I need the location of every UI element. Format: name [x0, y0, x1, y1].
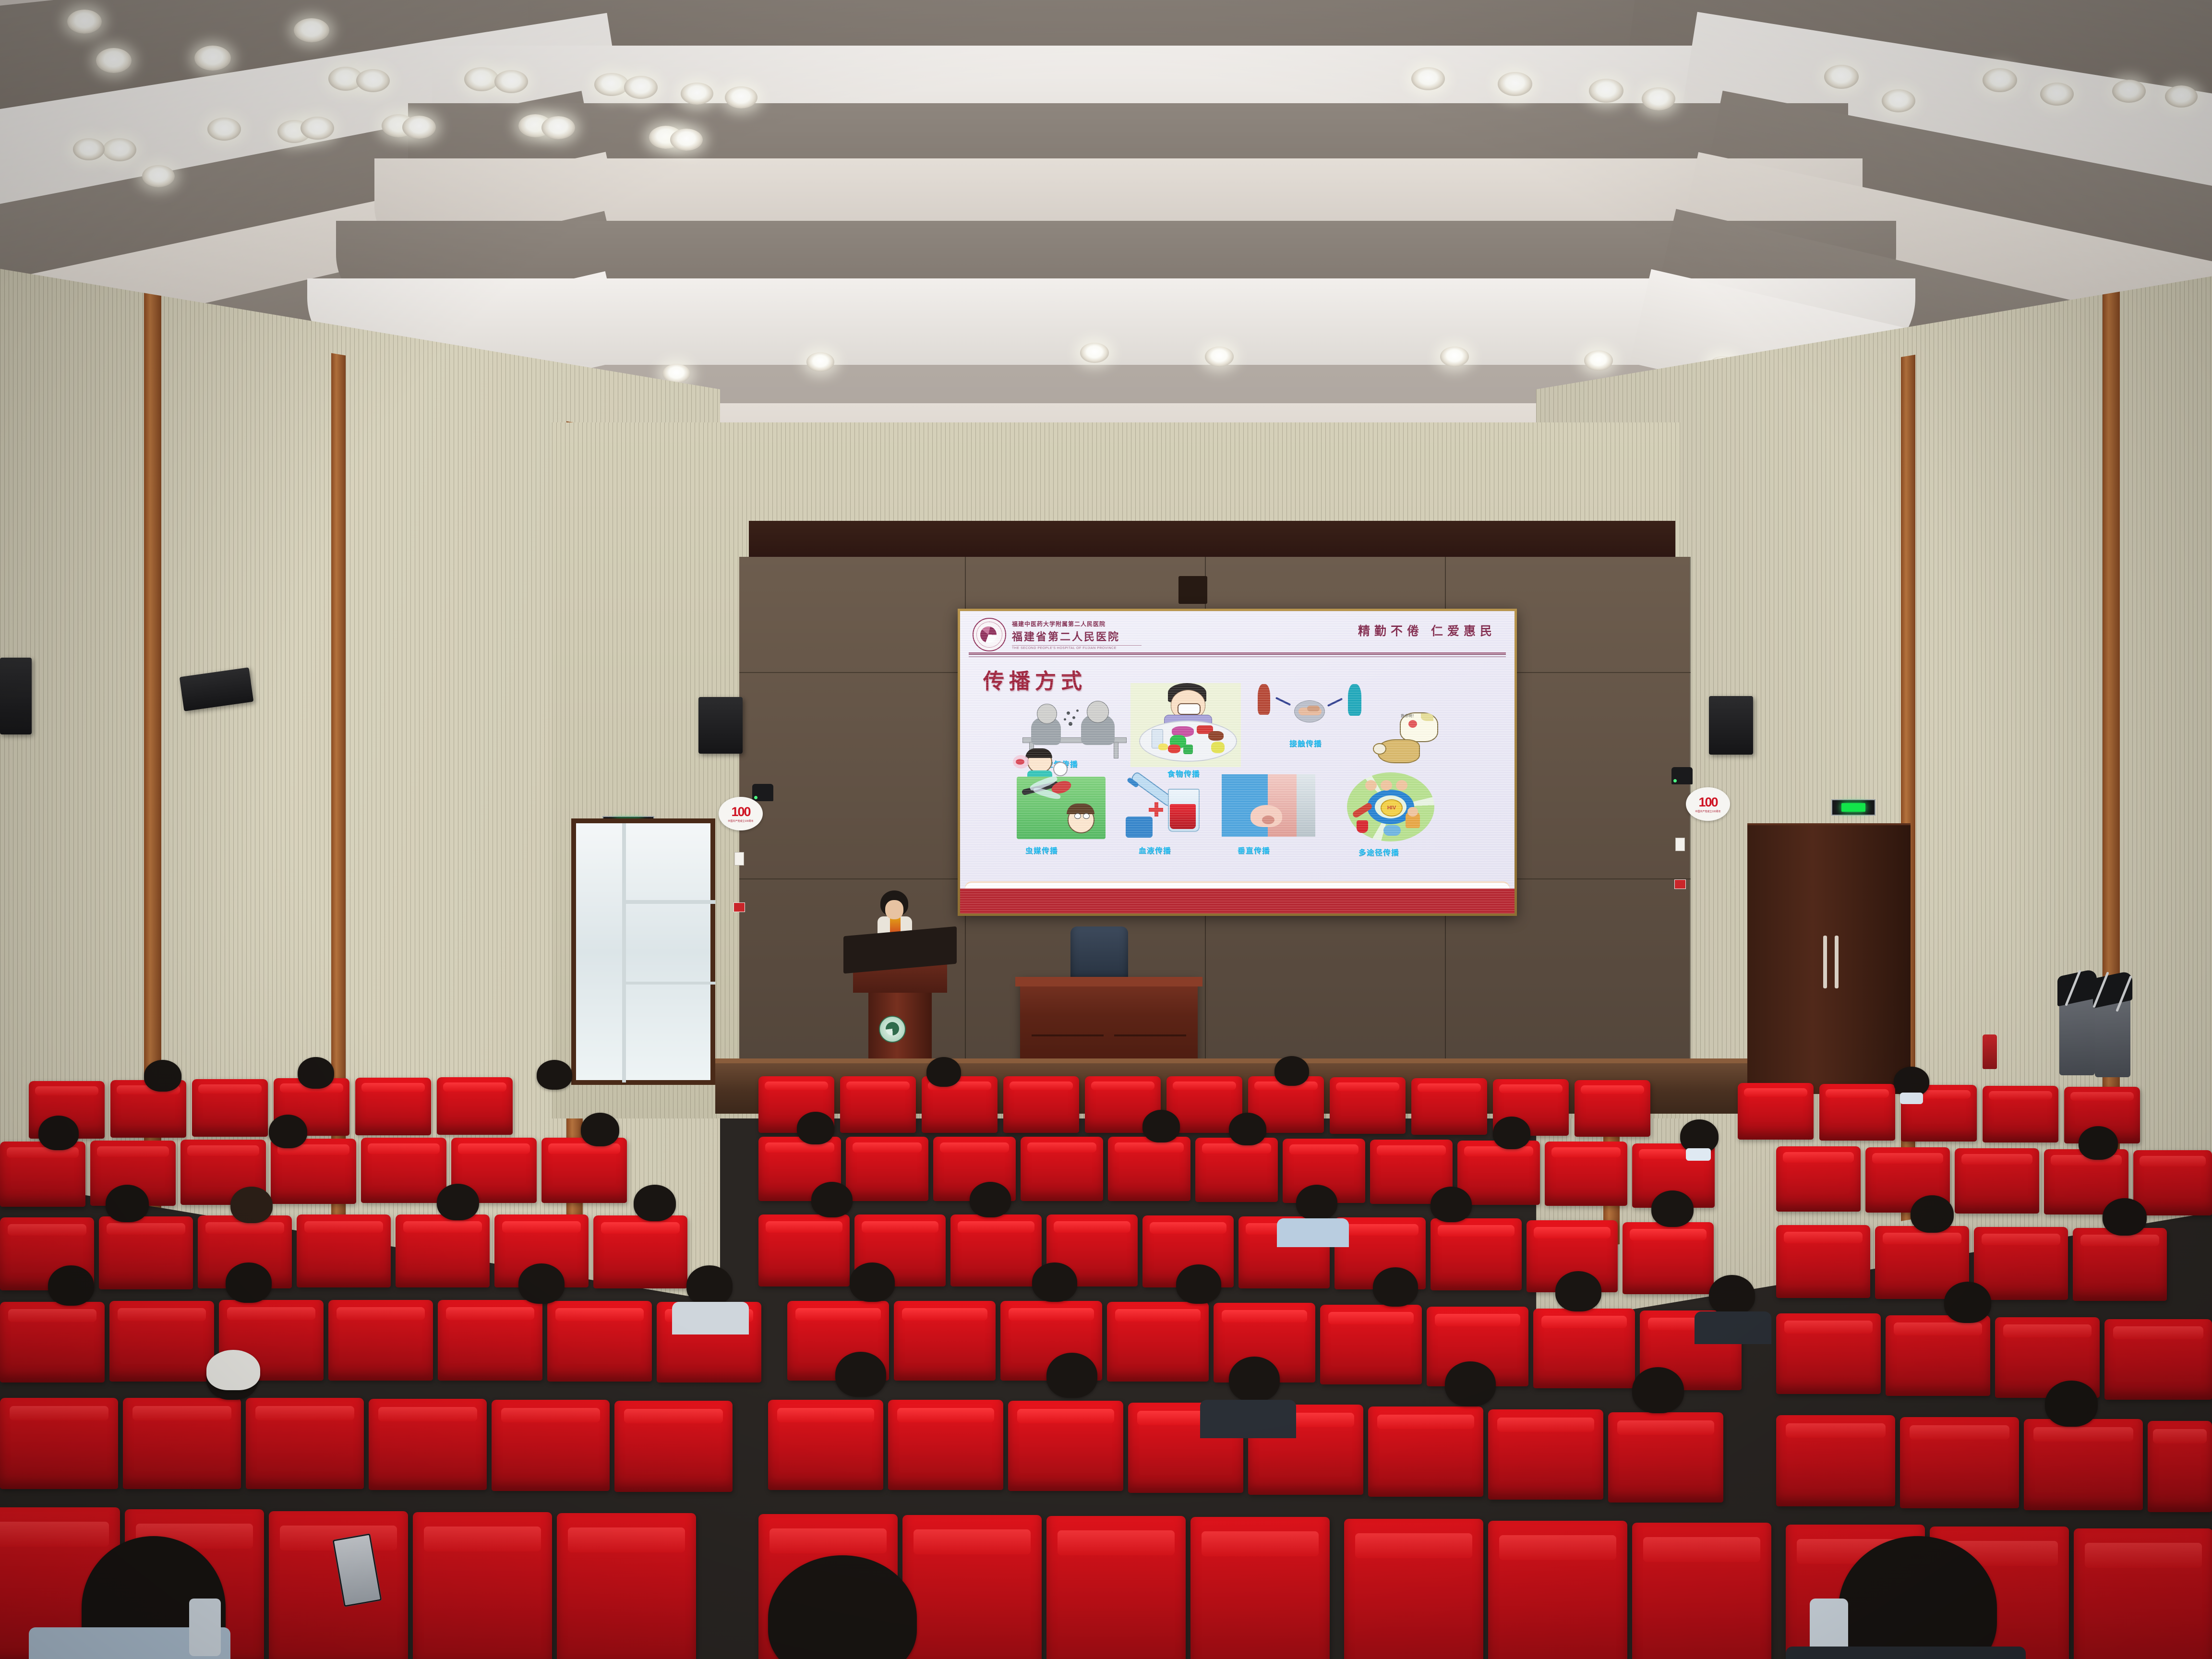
- ceiling-downlight: [2165, 85, 2198, 108]
- seat[interactable]: [1632, 1523, 1771, 1659]
- caption-vector: 虫媒传播: [1025, 845, 1058, 855]
- ceiling-downlight: [67, 10, 102, 34]
- audience-head: [1176, 1264, 1221, 1304]
- seat[interactable]: [492, 1400, 610, 1491]
- seat[interactable]: [758, 1214, 850, 1286]
- header-rule-secondary: [969, 656, 1506, 657]
- seat[interactable]: [2104, 1319, 2212, 1400]
- audience-head: [1894, 1067, 1929, 1096]
- seat[interactable]: [1195, 1138, 1278, 1202]
- centenary-subtitle: 中国共产党成立100周年: [1695, 810, 1720, 813]
- caption-multiroute: 多途径传播: [1358, 847, 1399, 857]
- audience-head: [1229, 1357, 1280, 1402]
- seat[interactable]: [541, 1138, 627, 1203]
- audience-cap: [206, 1350, 260, 1390]
- seat[interactable]: [2073, 1228, 2167, 1301]
- ceiling-downlight: [1882, 89, 1915, 112]
- audience-head: [1229, 1113, 1266, 1145]
- seat[interactable]: [1108, 1137, 1190, 1201]
- seat[interactable]: [1886, 1315, 1990, 1396]
- audience-head: [835, 1352, 886, 1397]
- seat[interactable]: [396, 1214, 490, 1287]
- seat[interactable]: [1431, 1218, 1522, 1290]
- audience-head: [537, 1060, 572, 1090]
- ceiling-downlight: [681, 83, 713, 105]
- seat[interactable]: [1046, 1516, 1186, 1659]
- fire-alarm-button[interactable]: [734, 852, 744, 866]
- ceiling-downlight: [725, 86, 757, 108]
- centenary-subtitle: 中国共产党成立100周年: [728, 819, 753, 823]
- audience-head: [1651, 1190, 1694, 1227]
- hospital-name-english: THE SECOND PEOPLE'S HOSPITAL OF FUJIAN P…: [1012, 645, 1142, 650]
- ceiling-downlight: [1498, 72, 1532, 96]
- seat[interactable]: [192, 1079, 268, 1137]
- hospital-slogan: 精勤不倦 仁爱惠民: [1358, 622, 1496, 639]
- face-mask: [1900, 1093, 1923, 1104]
- centenary-badge-right: 100 中国共产党成立100周年: [1686, 787, 1730, 821]
- audience-head: [686, 1265, 733, 1306]
- audience-head: [1632, 1367, 1684, 1413]
- seat[interactable]: [1003, 1076, 1079, 1133]
- seat[interactable]: [1021, 1137, 1103, 1201]
- animal-bite-illustration: 救命啊！: [1373, 709, 1440, 767]
- slide-book-spine: [1237, 892, 1238, 904]
- audience-head: [1944, 1282, 1991, 1323]
- podium-emblem-icon: [879, 1016, 906, 1043]
- vector-borne-illustration: [1017, 777, 1106, 839]
- seat[interactable]: [1608, 1412, 1723, 1503]
- audience-shoulders: [1277, 1218, 1349, 1247]
- seat[interactable]: [768, 1400, 883, 1490]
- seat[interactable]: [123, 1398, 241, 1489]
- auditorium-photo: 福建中医药大学附属第二人民医院 福建省第二人民医院 THE SECOND PEO…: [0, 0, 2212, 1659]
- ceiling-downlight: [2112, 80, 2146, 103]
- seat[interactable]: [614, 1401, 733, 1492]
- seat[interactable]: [328, 1300, 433, 1381]
- wall-speaker: [0, 658, 32, 734]
- audience-head: [581, 1113, 619, 1146]
- hospital-logo-text: 福建中医药大学附属第二人民医院 福建省第二人民医院 THE SECOND PEO…: [1012, 620, 1142, 650]
- glass-exit-door-left[interactable]: [571, 818, 715, 1085]
- seat[interactable]: [1368, 1407, 1483, 1497]
- audience-seating: [0, 1056, 2212, 1659]
- ceiling-downlight: [494, 70, 528, 93]
- seat[interactable]: [2024, 1419, 2143, 1510]
- ceiling-downlight: [594, 73, 629, 96]
- hiv-center-label: HIV: [1381, 799, 1403, 817]
- foodborne-illustration: [1130, 683, 1241, 767]
- seat[interactable]: [0, 1302, 105, 1382]
- ceiling-downlight: [2040, 83, 2074, 106]
- ceiling-downlight: [294, 18, 329, 42]
- slide-title: 传播方式: [983, 664, 1087, 695]
- seat[interactable]: [1983, 1086, 2058, 1142]
- seat[interactable]: [1457, 1141, 1540, 1205]
- audience-head: [38, 1116, 79, 1150]
- seat[interactable]: [1974, 1227, 2068, 1300]
- seat[interactable]: [413, 1512, 552, 1659]
- seat[interactable]: [1900, 1417, 2019, 1508]
- hospital-logo-icon: [973, 618, 1006, 651]
- audience-head: [269, 1115, 307, 1148]
- fire-alarm-button[interactable]: [1675, 838, 1685, 851]
- ceiling-downlight: [356, 69, 390, 92]
- ceiling-downlight: [1440, 347, 1469, 367]
- audience-head: [1274, 1056, 1309, 1086]
- bloodborne-illustration: [1126, 779, 1210, 839]
- hospital-name-line1: 福建中医药大学附属第二人民医院: [1012, 620, 1142, 628]
- stage-chair: [1070, 926, 1128, 984]
- hospital-name-line2: 福建省第二人民医院: [1012, 628, 1142, 644]
- ceiling-downlight: [1589, 79, 1623, 103]
- header-rule: [969, 652, 1506, 655]
- ceiling-downlight: [1411, 67, 1445, 90]
- exit-sign-right: [1831, 799, 1875, 816]
- audience-head: [1555, 1271, 1601, 1311]
- seat[interactable]: [1107, 1302, 1209, 1382]
- audience-head: [1493, 1117, 1530, 1149]
- seat[interactable]: [437, 1077, 513, 1135]
- seat[interactable]: [2133, 1150, 2212, 1215]
- ceiling-downlight: [541, 116, 575, 139]
- ceiling-downlight: [142, 165, 175, 187]
- audience-head: [1445, 1361, 1496, 1407]
- seat[interactable]: [1488, 1409, 1603, 1500]
- wooden-exit-door-right[interactable]: [1747, 823, 1911, 1094]
- audience-head: [926, 1057, 961, 1087]
- seat[interactable]: [1488, 1521, 1627, 1659]
- seat[interactable]: [1320, 1305, 1422, 1384]
- projector-mount: [1178, 576, 1207, 604]
- seat[interactable]: [1545, 1142, 1627, 1206]
- audience-head: [2079, 1126, 2118, 1160]
- audience-shoulders: [1200, 1400, 1296, 1438]
- seat[interactable]: [902, 1515, 1042, 1659]
- audience-head: [2103, 1198, 2147, 1236]
- audience-head: [1373, 1267, 1418, 1307]
- seat[interactable]: [1776, 1225, 1870, 1298]
- caption-foodborne: 食物传播: [1167, 769, 1200, 779]
- audience-head: [1709, 1275, 1755, 1315]
- multiroute-wheel-illustration: HIV: [1339, 769, 1443, 842]
- audience-head: [1296, 1185, 1337, 1220]
- fire-alarm-strobe: [1674, 879, 1686, 889]
- seat[interactable]: [269, 1511, 408, 1659]
- ceiling-downlight: [1584, 350, 1613, 371]
- foreground-shoulders-right: [1786, 1647, 2026, 1659]
- seat[interactable]: [0, 1398, 118, 1489]
- audience-head: [2045, 1381, 2098, 1427]
- seat[interactable]: [438, 1300, 542, 1381]
- seat[interactable]: [1623, 1222, 1714, 1294]
- centenary-badge-left: 100 中国共产党成立100周年: [719, 797, 763, 830]
- audience-head: [634, 1185, 676, 1221]
- seat[interactable]: [271, 1139, 356, 1204]
- ceiling-downlight: [96, 48, 132, 73]
- seat[interactable]: [297, 1214, 391, 1287]
- caption-contact: 接触传播: [1289, 738, 1322, 748]
- centenary-number: 100: [1698, 795, 1717, 810]
- ceiling-downlight: [1824, 65, 1859, 89]
- ceiling-downlight: [670, 129, 703, 151]
- security-camera-icon: [752, 784, 773, 801]
- wall-speaker: [698, 697, 743, 754]
- audience-head: [230, 1187, 273, 1223]
- fire-alarm-strobe: [733, 902, 745, 912]
- ceiling-downlight: [73, 138, 105, 160]
- audience-head: [226, 1262, 272, 1303]
- seat[interactable]: [1533, 1309, 1635, 1388]
- seat[interactable]: [99, 1216, 193, 1289]
- seat[interactable]: [2074, 1528, 2212, 1659]
- seat[interactable]: [109, 1301, 214, 1382]
- ceiling-downlight: [402, 116, 436, 139]
- seat[interactable]: [355, 1078, 431, 1135]
- vertical-transmission-illustration: [1222, 774, 1315, 837]
- ceiling-downlight: [806, 352, 834, 372]
- audience-head: [797, 1112, 834, 1144]
- face-mask: [189, 1599, 221, 1656]
- projection-screen: 福建中医药大学附属第二人民医院 福建省第二人民医院 THE SECOND PEO…: [958, 609, 1517, 916]
- ceiling-downlight: [301, 117, 334, 140]
- face-mask: [1686, 1148, 1711, 1161]
- ceiling-downlight: [194, 46, 231, 71]
- seat[interactable]: [2148, 1421, 2212, 1512]
- audience-head: [1142, 1110, 1180, 1142]
- seat[interactable]: [1738, 1083, 1814, 1140]
- seat[interactable]: [888, 1400, 1003, 1490]
- seat[interactable]: [593, 1215, 687, 1288]
- audience-shoulders: [672, 1302, 749, 1334]
- ceiling-downlight: [207, 118, 241, 141]
- seat[interactable]: [1008, 1401, 1123, 1491]
- seat[interactable]: [1344, 1519, 1483, 1659]
- seat[interactable]: [1411, 1078, 1487, 1135]
- seat[interactable]: [846, 1137, 928, 1201]
- audience-head: [144, 1060, 181, 1092]
- seat[interactable]: [1776, 1146, 1861, 1212]
- audience-head: [298, 1057, 334, 1089]
- audience-head: [106, 1185, 149, 1222]
- audience-head: [1911, 1195, 1954, 1233]
- ceiling-downlight: [1080, 343, 1109, 363]
- seat[interactable]: [894, 1301, 996, 1381]
- audience-head: [437, 1184, 479, 1220]
- seat[interactable]: [0, 1142, 85, 1207]
- security-camera-icon: [1671, 767, 1693, 784]
- wall-speaker: [1709, 696, 1753, 755]
- presentation-slide: 福建中医药大学附属第二人民医院 福建省第二人民医院 THE SECOND PEO…: [960, 611, 1515, 914]
- caption-vertical: 垂直传播: [1238, 845, 1270, 855]
- ceiling-downlight: [103, 138, 136, 161]
- seat[interactable]: [840, 1076, 916, 1133]
- ceiling-downlight: [1205, 347, 1234, 367]
- audience-head: [811, 1182, 853, 1217]
- audience-head: [850, 1262, 895, 1302]
- seat[interactable]: [1776, 1415, 1895, 1506]
- seat[interactable]: [369, 1399, 487, 1490]
- ceiling-downlight: [1642, 87, 1675, 110]
- seat[interactable]: [1575, 1080, 1650, 1137]
- audience-head: [1431, 1187, 1472, 1222]
- seat[interactable]: [950, 1214, 1042, 1286]
- audience-head: [518, 1263, 565, 1304]
- ceiling-downlight: [624, 76, 658, 99]
- ceiling-downlight: [464, 67, 499, 91]
- ceiling-downlight: [1983, 68, 2017, 92]
- seat[interactable]: [557, 1513, 696, 1659]
- audience-head: [1032, 1262, 1077, 1302]
- centenary-number: 100: [731, 805, 750, 819]
- audience-head: [48, 1265, 94, 1306]
- seat[interactable]: [1330, 1077, 1406, 1134]
- seat[interactable]: [1776, 1313, 1881, 1394]
- seat[interactable]: [547, 1301, 652, 1382]
- seat[interactable]: [361, 1138, 446, 1203]
- audience-head: [970, 1182, 1011, 1217]
- seat[interactable]: [1190, 1517, 1330, 1659]
- seat[interactable]: [1955, 1148, 2039, 1214]
- seat[interactable]: [1819, 1084, 1895, 1141]
- audience-head: [1046, 1353, 1097, 1398]
- audience-shoulders: [1695, 1311, 1771, 1344]
- caption-blood: 血液传播: [1139, 845, 1171, 855]
- seat[interactable]: [246, 1398, 364, 1489]
